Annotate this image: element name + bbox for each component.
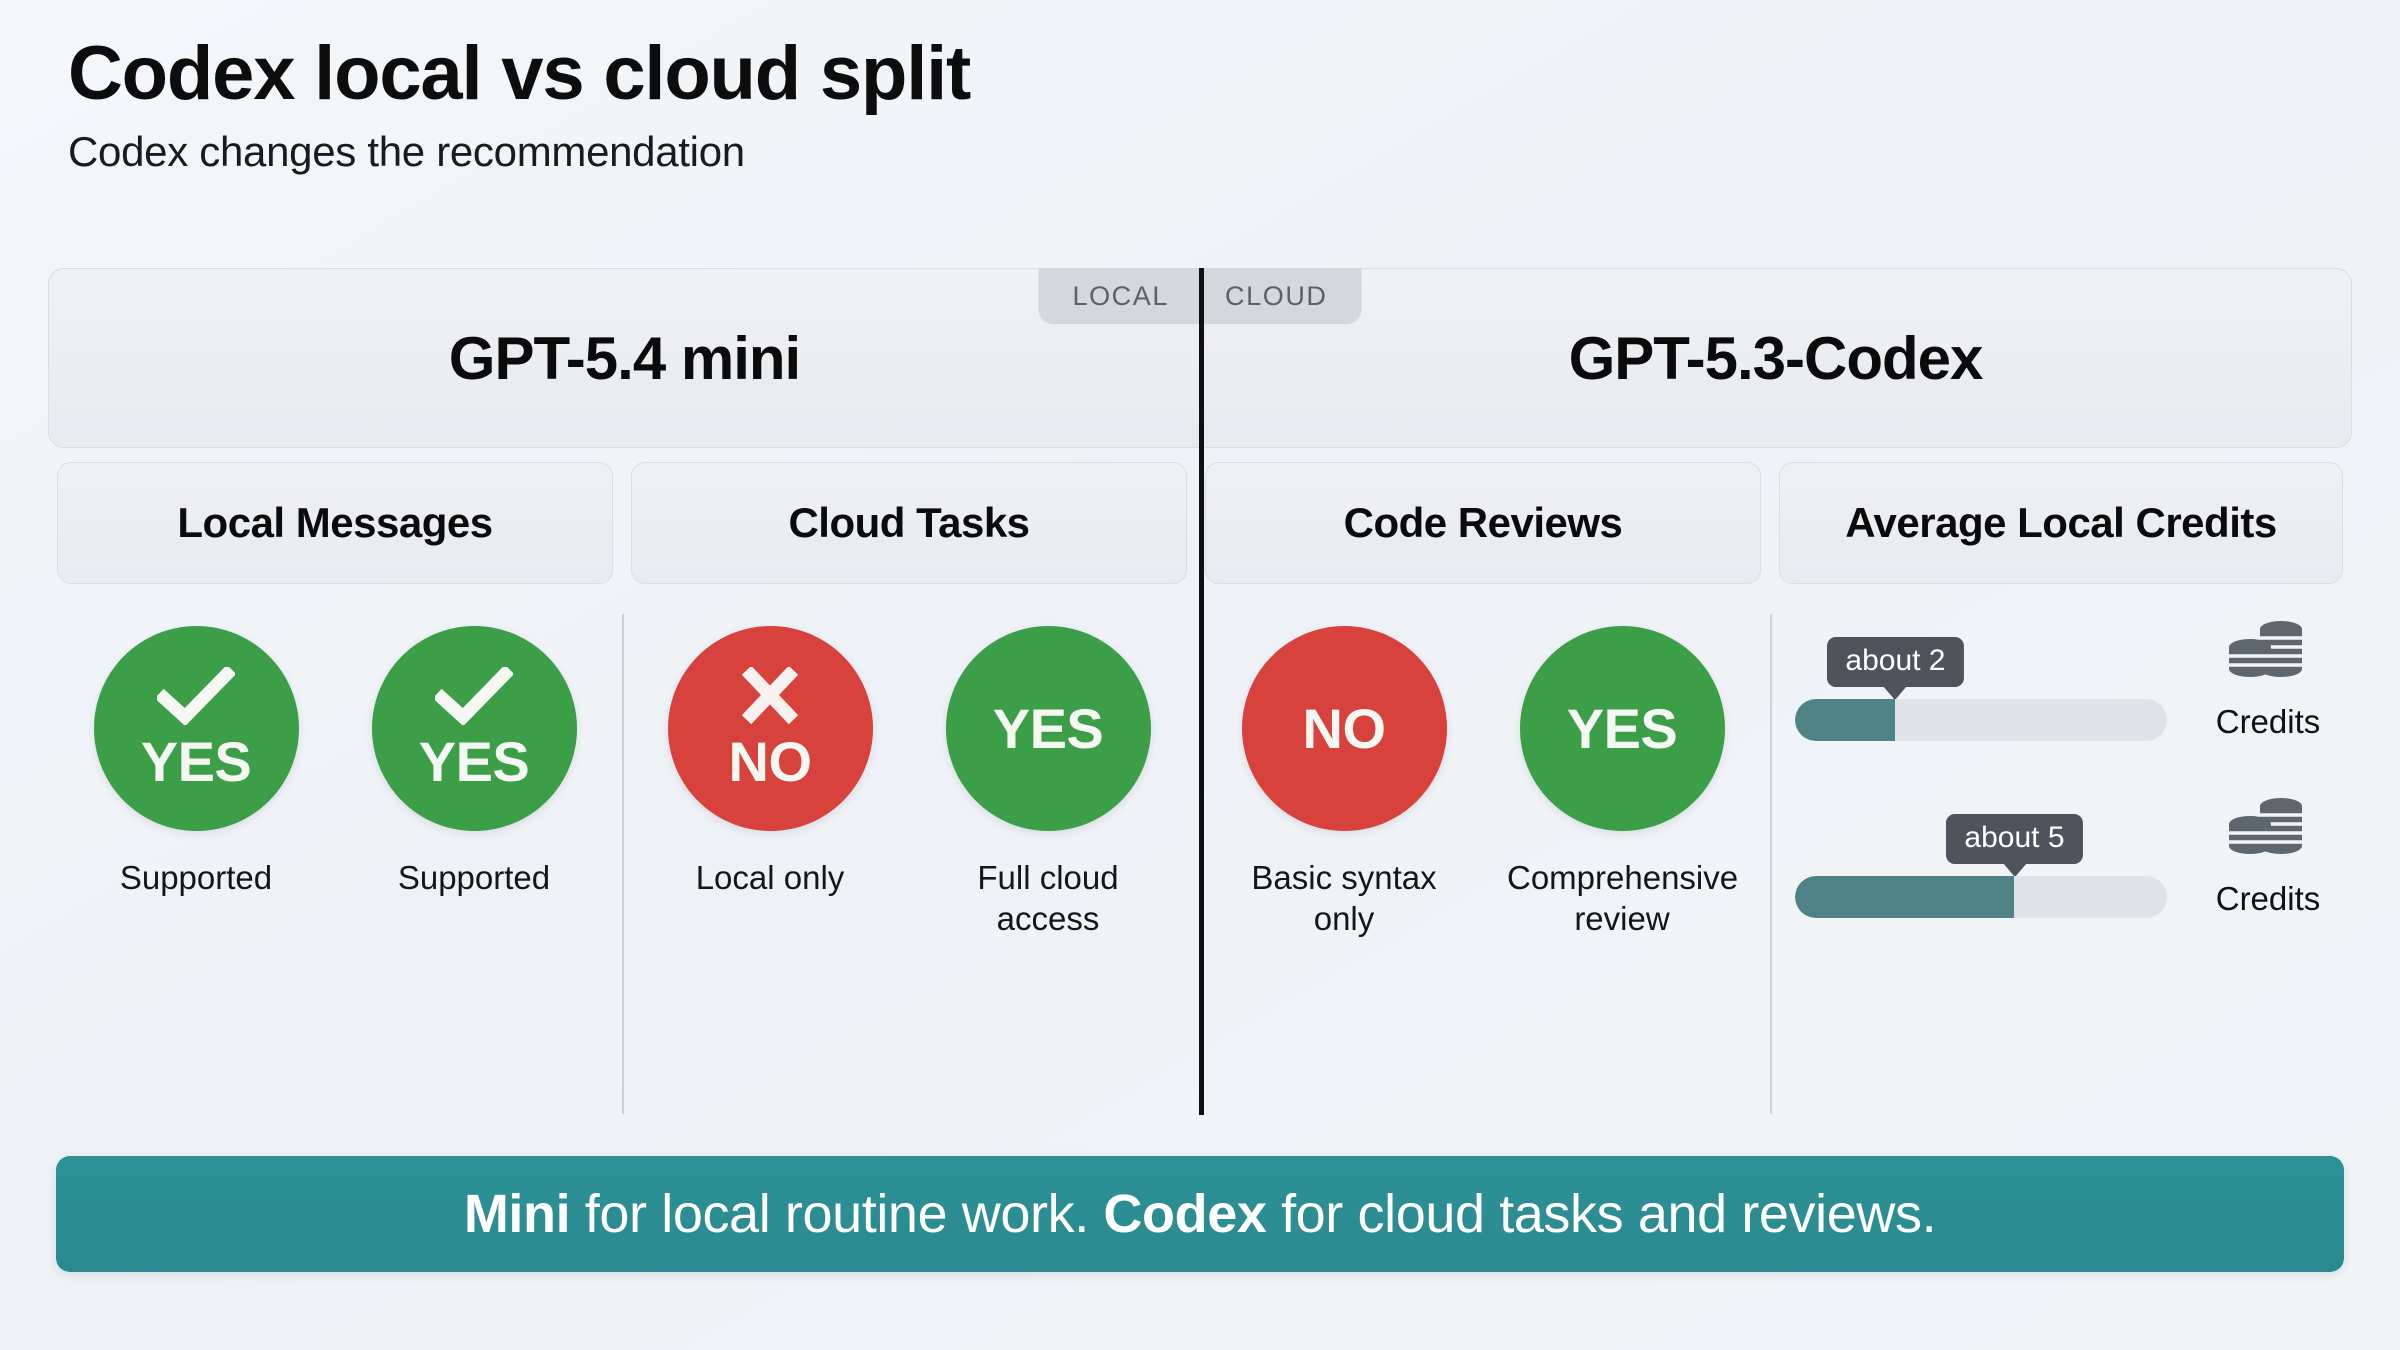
gauge-group: about 2 bbox=[1779, 614, 2343, 918]
verdict-item: YES Supported bbox=[66, 626, 326, 898]
verdict-item: NO Local only bbox=[640, 626, 900, 898]
metric-column-local-messages: Local Messages YES Supported bbox=[48, 462, 622, 1128]
model-cell-local: GPT-5.4 mini bbox=[49, 269, 1200, 447]
verdict-caption: Supported bbox=[120, 857, 272, 898]
verdict-badge-no: NO bbox=[1242, 626, 1447, 831]
verdict-caption: Comprehensive review bbox=[1507, 857, 1737, 940]
gauge-tooltip: about 2 bbox=[1827, 637, 1963, 687]
metric-heading-local-messages: Local Messages bbox=[57, 462, 613, 584]
verdict-badge-yes: YES bbox=[1520, 626, 1725, 831]
gauge-track bbox=[1795, 699, 2167, 741]
page-title: Codex local vs cloud split bbox=[68, 34, 2068, 114]
model-cell-cloud: GPT-5.3-Codex bbox=[1200, 269, 2351, 447]
verdict-group: NO Local only YES Full cloud access bbox=[631, 626, 1187, 940]
credits-unit: Credits bbox=[2193, 791, 2343, 918]
metric-heading-code-reviews: Code Reviews bbox=[1205, 462, 1761, 584]
credits-gauge: about 2 bbox=[1795, 637, 2167, 741]
verdict-item: YES Comprehensive review bbox=[1492, 626, 1752, 940]
gauge-fill bbox=[1795, 699, 1895, 741]
page-subtitle: Codex changes the recommendation bbox=[68, 128, 2068, 176]
metric-heading-average-local-credits: Average Local Credits bbox=[1779, 462, 2343, 584]
verdict-value: YES bbox=[419, 734, 530, 790]
gauge-fill bbox=[1795, 876, 2014, 918]
verdict-caption: Local only bbox=[696, 857, 845, 898]
metric-column-average-local-credits: Average Local Credits about 2 bbox=[1770, 462, 2352, 1128]
banner-middle: for local routine work. bbox=[570, 1184, 1103, 1244]
center-divider bbox=[1199, 268, 1204, 1115]
verdict-value: YES bbox=[1567, 701, 1678, 757]
credits-unit: Credits bbox=[2193, 614, 2343, 741]
model-name-local: GPT-5.4 mini bbox=[449, 324, 800, 393]
summary-banner-text: Mini for local routine work. Codex for c… bbox=[464, 1183, 1936, 1245]
coins-icon bbox=[2222, 614, 2314, 699]
metric-heading-label: Code Reviews bbox=[1344, 499, 1623, 547]
coins-icon bbox=[2222, 791, 2314, 876]
credits-label: Credits bbox=[2216, 703, 2321, 741]
credits-label: Credits bbox=[2216, 880, 2321, 918]
verdict-value: YES bbox=[993, 701, 1104, 757]
verdict-value: YES bbox=[141, 734, 252, 790]
cross-icon bbox=[738, 667, 802, 730]
banner-tail: for cloud tasks and reviews. bbox=[1266, 1184, 1936, 1244]
verdict-caption: Basic syntax only bbox=[1229, 857, 1459, 940]
metric-column-cloud-tasks: Cloud Tasks NO Local only bbox=[622, 462, 1196, 1128]
verdict-group: NO Basic syntax only YES Comprehensive r… bbox=[1205, 626, 1761, 940]
check-icon bbox=[157, 667, 235, 730]
metric-heading-cloud-tasks: Cloud Tasks bbox=[631, 462, 1187, 584]
check-icon bbox=[435, 667, 513, 730]
metric-heading-label: Average Local Credits bbox=[1845, 499, 2276, 547]
verdict-value: NO bbox=[1303, 701, 1386, 757]
metric-heading-label: Cloud Tasks bbox=[788, 499, 1029, 547]
gauge-tooltip: about 5 bbox=[1946, 814, 2082, 864]
credits-gauge: about 5 bbox=[1795, 814, 2167, 918]
verdict-item: NO Basic syntax only bbox=[1214, 626, 1474, 940]
metric-heading-label: Local Messages bbox=[177, 499, 492, 547]
verdict-item: YES Full cloud access bbox=[918, 626, 1178, 940]
verdict-badge-yes: YES bbox=[946, 626, 1151, 831]
gauge-row: about 2 bbox=[1795, 614, 2343, 741]
page-header: Codex local vs cloud split Codex changes… bbox=[68, 34, 2068, 176]
banner-lead: Mini bbox=[464, 1184, 570, 1244]
side-badge-local: LOCAL bbox=[1038, 268, 1197, 324]
verdict-group: YES Supported YES Supported bbox=[57, 626, 613, 898]
model-name-cloud: GPT-5.3-Codex bbox=[1569, 324, 1983, 393]
verdict-item: YES Supported bbox=[344, 626, 604, 898]
gauge-row: about 5 bbox=[1795, 791, 2343, 918]
banner-strong2: Codex bbox=[1103, 1184, 1266, 1244]
verdict-caption: Supported bbox=[398, 857, 550, 898]
side-badge-cloud: CLOUD bbox=[1197, 268, 1362, 324]
gauge-track bbox=[1795, 876, 2167, 918]
verdict-badge-no: NO bbox=[668, 626, 873, 831]
comparison-board: GPT-5.4 mini GPT-5.3-Codex LOCAL CLOUD L… bbox=[48, 268, 2352, 1128]
verdict-badge-yes: YES bbox=[94, 626, 299, 831]
summary-banner: Mini for local routine work. Codex for c… bbox=[56, 1156, 2344, 1272]
verdict-badge-yes: YES bbox=[372, 626, 577, 831]
verdict-value: NO bbox=[729, 734, 812, 790]
verdict-caption: Full cloud access bbox=[933, 857, 1163, 940]
metric-column-code-reviews: Code Reviews NO Basic syntax only YES Co… bbox=[1196, 462, 1770, 1128]
